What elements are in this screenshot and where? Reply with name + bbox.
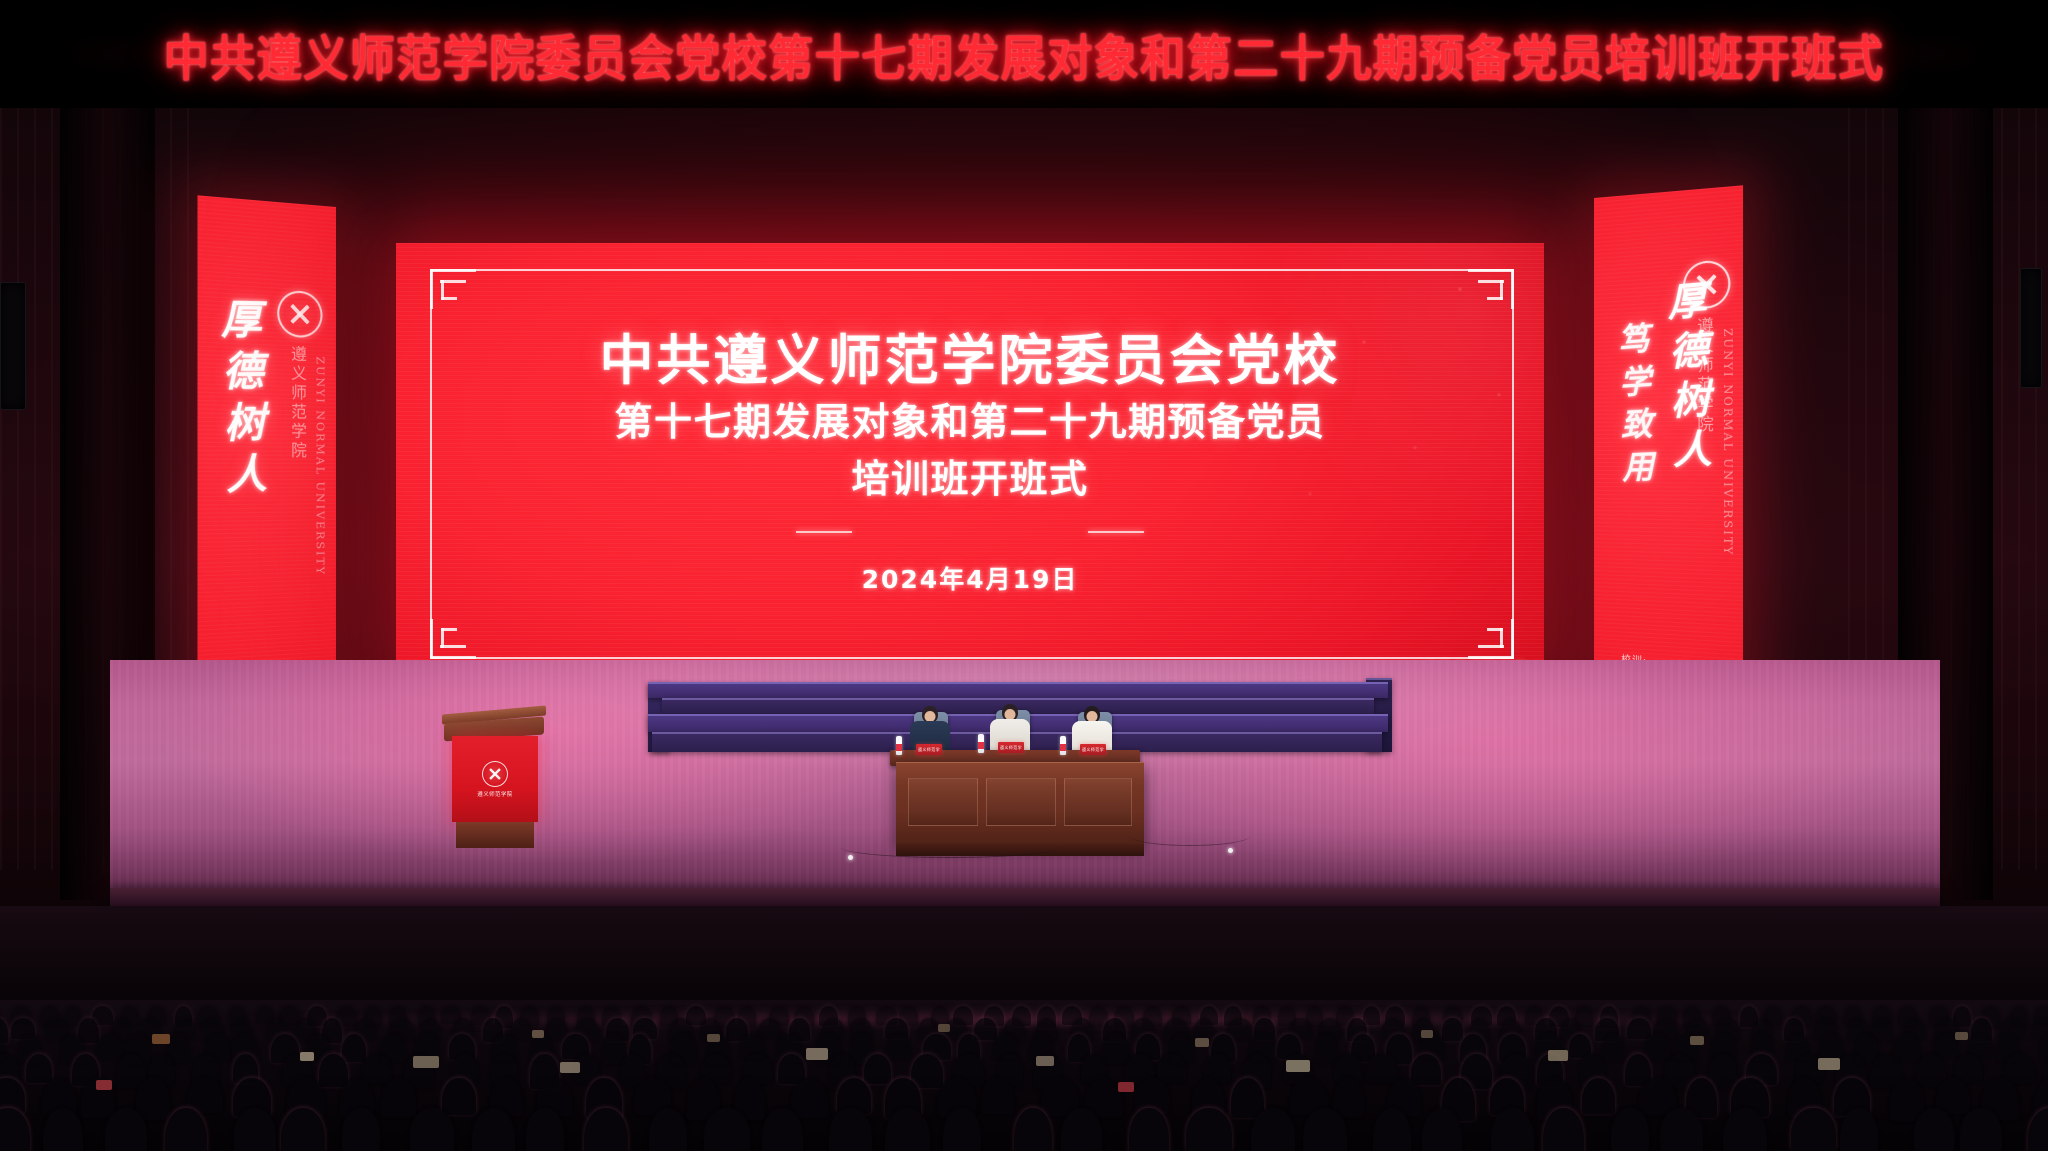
audience-head: [442, 1078, 476, 1115]
table-panel: [986, 778, 1056, 826]
audience-accent: [1195, 1038, 1209, 1047]
audience-head: [1315, 1034, 1338, 1063]
nameplate: 遵义师范学院: [916, 744, 942, 755]
audience-head: [1103, 1034, 1129, 1064]
audience-head: [43, 1108, 83, 1151]
audience-head: [26, 1054, 52, 1083]
university-emblem-icon: [482, 761, 508, 787]
audience-head: [1157, 1054, 1185, 1083]
audience-head: [187, 1078, 223, 1113]
screen-date: 2024年4月19日: [862, 560, 1079, 596]
top-led-banner: 中共遵义师范学院委员会党校第十七期发展对象和第二十九期预备党员培训班开班式: [0, 0, 2048, 108]
audience-head: [342, 1108, 380, 1151]
audience-head: [886, 1034, 911, 1059]
audience-accent: [1421, 1030, 1433, 1038]
audience-head: [1627, 1018, 1651, 1039]
audience-head: [1227, 1018, 1251, 1040]
speaker-podium: 遵义师范学院: [452, 720, 538, 850]
audience-accent: [152, 1034, 170, 1044]
audience-head: [1840, 1108, 1878, 1151]
nameplate: 遵义师范学院: [1080, 744, 1106, 755]
nameplate: 遵义师范学院: [998, 742, 1024, 753]
audience-accent: [1690, 1036, 1704, 1045]
emblem-name-cn: 遵义师范学院: [285, 345, 309, 461]
audience-accent: [300, 1052, 314, 1061]
audience-head: [1442, 1018, 1462, 1041]
audience-accent: [560, 1062, 580, 1073]
audience-accent: [1955, 1032, 1968, 1040]
table-panel: [1064, 778, 1132, 826]
audience-accent: [413, 1056, 439, 1068]
table-panel: [908, 778, 978, 826]
emblem-name-en: ZUNYI NORMAL UNIVERSITY: [1721, 328, 1735, 556]
audience-head: [974, 1018, 996, 1040]
audience-head: [864, 1054, 892, 1084]
right-panel-calligraphy-2: 笃学致用: [1609, 321, 1660, 493]
audience-head: [1914, 1108, 1955, 1151]
audience-accent: [1286, 1060, 1310, 1072]
audience-head: [526, 1108, 564, 1151]
audience-head: [105, 1108, 147, 1151]
audience-head: [649, 1108, 687, 1151]
screen-title-line-3: 培训班开班式: [851, 451, 1088, 508]
audience-head: [1660, 1108, 1702, 1151]
audience-head: [791, 1078, 829, 1118]
audience-accent: [1118, 1082, 1134, 1092]
audience-head: [1251, 1108, 1295, 1151]
audience-head: [1333, 1078, 1365, 1117]
audience-head: [1014, 1108, 1052, 1151]
audience-head: [1819, 1034, 1844, 1060]
podium-base: [456, 822, 534, 848]
audience-accent: [96, 1080, 112, 1090]
audience-head: [319, 1054, 348, 1087]
audience-head: [0, 1108, 30, 1151]
audience-head: [1129, 1108, 1169, 1151]
podium-front-panel: 遵义师范学院: [452, 736, 538, 822]
screen-title-line-2: 第十七期发展对象和第二十九期预备党员: [614, 394, 1325, 451]
left-panel-calligraphy: 厚德树人: [206, 297, 272, 505]
audience-head: [1791, 1108, 1836, 1151]
audience-accent: [1036, 1056, 1054, 1066]
emblem-name-en: ZUNYI NORMAL UNIVERSITY: [314, 356, 327, 576]
decorative-rule: [760, 524, 1180, 540]
audience-accent: [806, 1048, 828, 1060]
audience-head: [342, 1034, 366, 1062]
screen-title-line-1: 中共遵义师范学院委员会党校: [600, 328, 1341, 394]
university-emblem-icon: [277, 290, 322, 339]
audience-head: [981, 1078, 1014, 1114]
screen-text-block: 中共遵义师范学院委员会党校 第十七期发展对象和第二十九期预备党员 培训班开班式 …: [396, 243, 1544, 687]
audience-head: [1602, 1034, 1624, 1061]
audience-head: [2028, 1108, 2048, 1151]
audience-head: [361, 1054, 392, 1084]
audience-accent: [532, 1030, 544, 1038]
microphone-marker: [848, 855, 853, 860]
water-bottle: [896, 736, 902, 755]
audience-head: [704, 1108, 750, 1151]
podium-emblem-cn: 遵义师范学院: [477, 790, 512, 798]
audience-head: [1709, 1054, 1737, 1087]
audience-head: [96, 1034, 123, 1059]
ticker-text: 中共遵义师范学院委员会党校第十七期发展对象和第二十九期预备党员培训班开班式: [164, 19, 1885, 89]
stage-cable: [1130, 826, 1250, 846]
audience-head: [1363, 1006, 1381, 1025]
audience-head: [1366, 1054, 1397, 1083]
water-bottle: [1060, 736, 1066, 755]
audience-accent: [1818, 1058, 1840, 1070]
water-bottle: [978, 734, 984, 753]
emblem-name-cn: 遵义师范学院: [1691, 316, 1716, 435]
stage-cable: [840, 836, 1060, 858]
audience-head: [1186, 1108, 1232, 1151]
audience-head: [165, 1108, 207, 1151]
riser-step-1: [648, 682, 1388, 698]
audience-head: [759, 1018, 781, 1039]
loudspeaker-left: [0, 282, 26, 410]
audience-head: [1411, 1054, 1441, 1085]
audience-head: [829, 1108, 872, 1151]
head-table-front: [896, 762, 1144, 844]
audience-head: [410, 1108, 454, 1151]
audience-head: [136, 1078, 170, 1120]
audience-head: [1582, 1078, 1616, 1114]
audience-head: [1644, 1034, 1671, 1060]
auditorium-scene: 中共遵义师范学院委员会党校第十七期发展对象和第二十九期预备党员培训班开班式 厚德…: [0, 0, 2048, 1151]
audience-head: [1491, 1108, 1533, 1151]
audience-accent: [938, 1024, 950, 1032]
audience-head: [1543, 1108, 1584, 1151]
audience-accent: [707, 1034, 720, 1042]
loudspeaker-right: [2020, 268, 2042, 388]
audience-head: [511, 1018, 531, 1040]
main-led-screen: 中共遵义师范学院委员会党校 第十七期发展对象和第二十九期预备党员 培训班开班式 …: [396, 243, 1544, 687]
audience-accent: [1548, 1050, 1568, 1061]
audience-head: [1893, 1034, 1921, 1061]
audience-seating: [0, 1000, 2048, 1151]
microphone-marker: [1228, 848, 1233, 853]
university-emblem-icon: [1683, 259, 1730, 309]
